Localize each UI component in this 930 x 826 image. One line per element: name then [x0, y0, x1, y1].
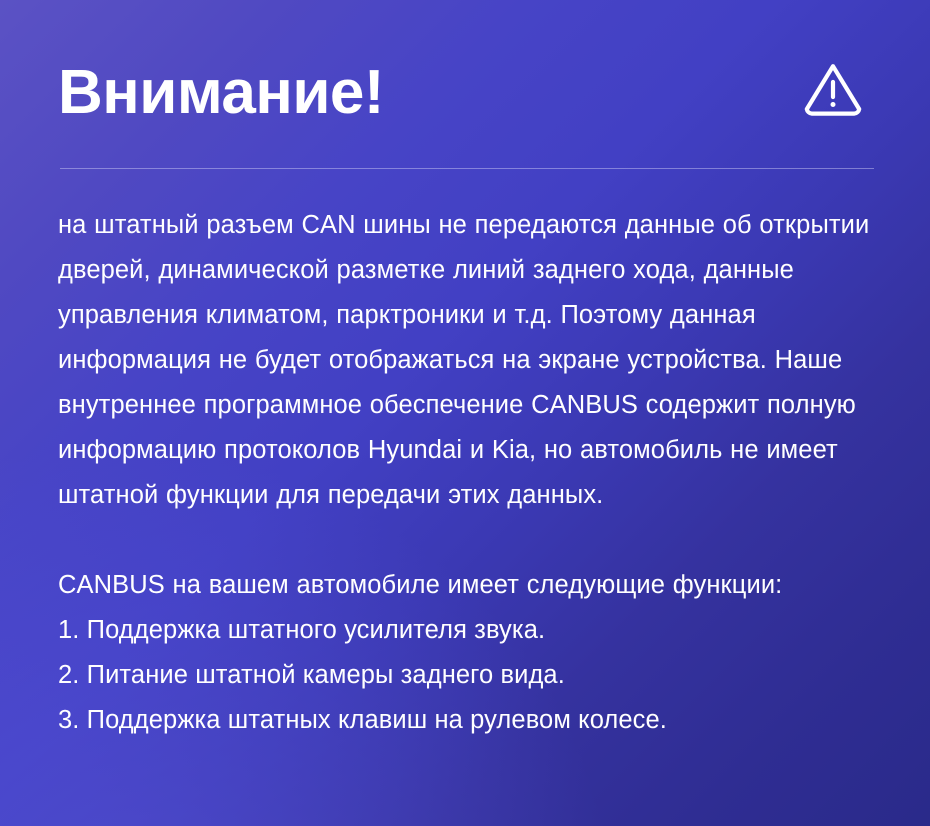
list-item: 2. Питание штатной камеры заднего вида. — [58, 653, 872, 698]
features-list: 1. Поддержка штатного усилителя звука. 2… — [58, 608, 872, 743]
page-title: Внимание! — [58, 62, 384, 124]
warning-notice-card: Внимание! на штатный разъем CAN шины не … — [0, 0, 930, 826]
warning-triangle-icon — [802, 61, 864, 122]
body-copy: на штатный разъем CAN шины не передаются… — [58, 169, 872, 743]
content-wrapper: Внимание! на штатный разъем CAN шины не … — [0, 0, 930, 743]
paragraph-spacer — [58, 518, 872, 563]
notice-paragraph-primary: на штатный разъем CAN шины не передаются… — [58, 203, 876, 518]
list-item: 1. Поддержка штатного усилителя звука. — [58, 608, 872, 653]
header: Внимание! — [58, 0, 872, 168]
list-item: 3. Поддержка штатных клавиш на рулевом к… — [58, 698, 872, 743]
notice-paragraph-features-intro: CANBUS на вашем автомобиле имеет следующ… — [58, 563, 876, 608]
